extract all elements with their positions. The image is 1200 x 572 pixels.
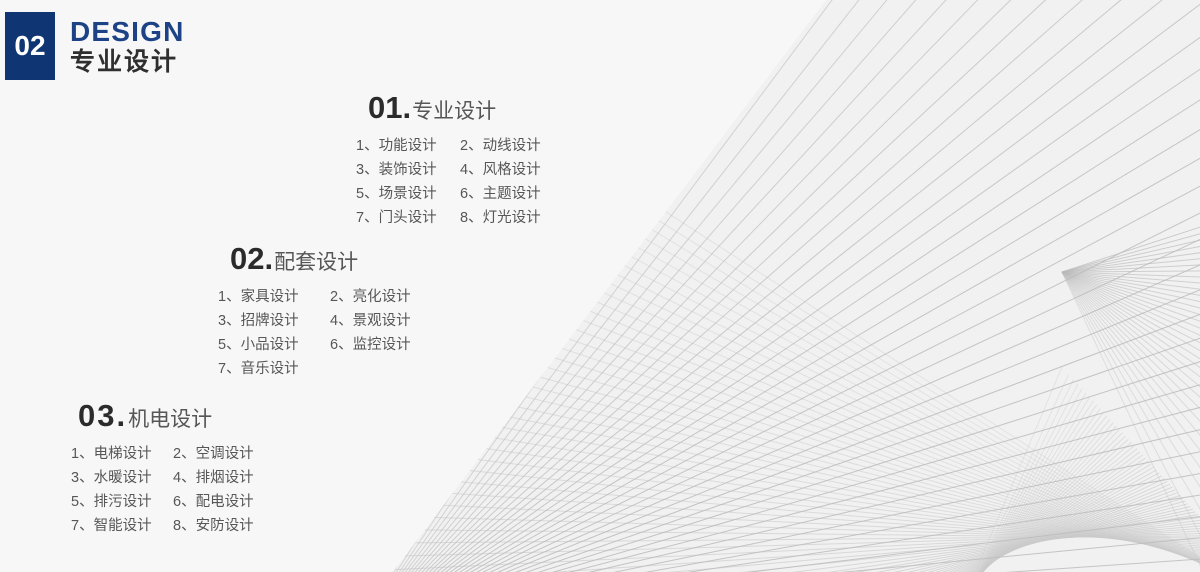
item-row: 1、功能设计 2、动线设计	[356, 137, 541, 156]
section-number-badge: 02	[5, 12, 55, 80]
slide-header: 02 DESIGN 专业设计	[5, 12, 185, 80]
item-row: 7、智能设计 8、安防设计	[71, 517, 254, 536]
section-number-text: 02	[14, 32, 45, 60]
item-row: 5、小品设计 6、监控设计	[218, 336, 411, 355]
list-item: 2、空调设计	[173, 445, 254, 464]
list-item: 4、风格设计	[460, 161, 541, 180]
list-item: 1、功能设计	[356, 137, 460, 156]
list-item: 7、智能设计	[71, 517, 173, 536]
item-row: 3、装饰设计 4、风格设计	[356, 161, 541, 180]
block-02-number: 02.	[230, 243, 273, 274]
content-block-03: 03. 机电设计 1、电梯设计 2、空调设计 3、水暖设计 4、排烟设计 5、排…	[78, 400, 254, 541]
list-item: 7、门头设计	[356, 209, 460, 228]
list-item: 8、安防设计	[173, 517, 254, 536]
content-block-01: 01. 专业设计 1、功能设计 2、动线设计 3、装饰设计 4、风格设计 5、场…	[368, 92, 541, 233]
block-01-name: 专业设计	[412, 101, 496, 122]
list-item: 3、招牌设计	[218, 312, 330, 331]
list-item: 6、主题设计	[460, 185, 541, 204]
item-row: 1、电梯设计 2、空调设计	[71, 445, 254, 464]
diagonal-panel	[393, 0, 1200, 572]
list-item: 1、电梯设计	[71, 445, 173, 464]
block-02-name: 配套设计	[274, 252, 358, 273]
content-block-02: 02. 配套设计 1、家具设计 2、亮化设计 3、招牌设计 4、景观设计 5、小…	[230, 243, 411, 384]
block-02-items: 1、家具设计 2、亮化设计 3、招牌设计 4、景观设计 5、小品设计 6、监控设…	[218, 288, 411, 379]
header-title-en: DESIGN	[70, 17, 185, 46]
fan-line-group	[353, 0, 1200, 572]
item-row: 3、招牌设计 4、景观设计	[218, 312, 411, 331]
block-03-items: 1、电梯设计 2、空调设计 3、水暖设计 4、排烟设计 5、排污设计 6、配电设…	[71, 445, 254, 536]
list-item: 2、动线设计	[460, 137, 541, 156]
list-item: 1、家具设计	[218, 288, 330, 307]
item-row: 1、家具设计 2、亮化设计	[218, 288, 411, 307]
list-item: 5、小品设计	[218, 336, 330, 355]
slide-canvas: 02 DESIGN 专业设计 01. 专业设计 1、功能设计 2、动线设计 3、…	[0, 0, 1200, 572]
block-01-number: 01.	[368, 92, 411, 123]
list-item: 3、水暖设计	[71, 469, 173, 488]
item-row: 5、场景设计 6、主题设计	[356, 185, 541, 204]
item-row: 7、门头设计 8、灯光设计	[356, 209, 541, 228]
block-03-name: 机电设计	[128, 409, 212, 430]
list-item: 5、排污设计	[71, 493, 173, 512]
list-item: 2、亮化设计	[330, 288, 411, 307]
list-item: 4、排烟设计	[173, 469, 254, 488]
block-03-title: 03. 机电设计	[78, 400, 254, 431]
block-01-items: 1、功能设计 2、动线设计 3、装饰设计 4、风格设计 5、场景设计 6、主题设…	[356, 137, 541, 228]
block-03-number: 03.	[78, 400, 127, 431]
list-item: 4、景观设计	[330, 312, 411, 331]
item-row: 7、音乐设计	[218, 360, 411, 379]
block-01-title: 01. 专业设计	[368, 92, 541, 123]
list-item: 5、场景设计	[356, 185, 460, 204]
list-item: 6、监控设计	[330, 336, 411, 355]
list-item: 8、灯光设计	[460, 209, 541, 228]
header-title-cn: 专业设计	[70, 48, 185, 77]
header-title-group: DESIGN 专业设计	[70, 12, 185, 80]
list-item: 3、装饰设计	[356, 161, 460, 180]
item-row: 3、水暖设计 4、排烟设计	[71, 469, 254, 488]
item-row: 5、排污设计 6、配电设计	[71, 493, 254, 512]
list-item: 6、配电设计	[173, 493, 254, 512]
block-02-title: 02. 配套设计	[230, 243, 411, 274]
list-item: 7、音乐设计	[218, 360, 330, 379]
